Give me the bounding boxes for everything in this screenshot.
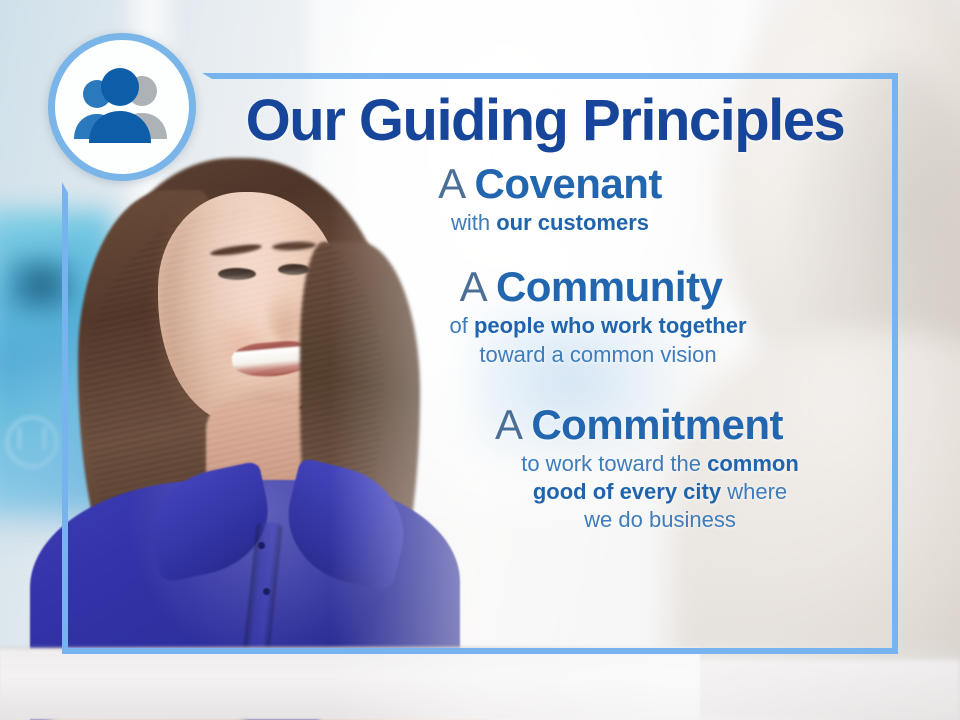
guiding-principles-graphic: FLOW AUTOMOTIVE FLOW (0, 0, 960, 720)
principle-heading: A Community (292, 265, 890, 309)
subtext-suffix: where (721, 479, 787, 504)
subtext-line-2: toward a common vision (306, 341, 890, 369)
frame-border-left (62, 193, 68, 654)
principle-subtext: of people who work together toward a com… (292, 312, 890, 368)
subtext-line-3: we do business (430, 506, 890, 534)
subtext-line-2: good of every city where (430, 478, 890, 506)
principle-keyword: Commitment (531, 401, 783, 448)
subtext-emphasis: people who work together (474, 313, 747, 338)
principle-heading: A Covenant (210, 162, 890, 206)
principle-subtext: with our customers (210, 209, 890, 237)
frame-border-top (212, 73, 898, 79)
people-group-icon (68, 67, 176, 147)
principle-article: A (495, 401, 531, 448)
subtext-prefix: with (451, 210, 496, 235)
subtext-emphasis-a: common (707, 451, 799, 476)
principle-article: A (460, 263, 496, 310)
subtext-emphasis-b: good of every city (533, 479, 721, 504)
desk-surface (0, 648, 700, 720)
principle-subtext: to work toward the common good of every … (388, 450, 890, 534)
frame-border-bottom (62, 648, 898, 654)
frame-border-right (892, 73, 898, 654)
principle-heading: A Commitment (388, 403, 890, 447)
people-badge (48, 33, 196, 181)
subtext-prefix: of (449, 313, 473, 338)
principle-keyword: Community (496, 263, 723, 310)
text-block: Our Guiding Principles A Covenant with o… (200, 86, 890, 631)
subtext-emphasis: our customers (496, 210, 649, 235)
subtext-prefix: to work toward the (521, 451, 707, 476)
subtext-line-1: to work toward the common (430, 450, 890, 478)
principle-keyword: Covenant (475, 160, 662, 207)
principle-covenant: A Covenant with our customers (200, 162, 890, 237)
principle-article: A (438, 160, 474, 207)
subtext-line-1: of people who work together (306, 312, 890, 340)
principle-community: A Community of people who work together … (200, 265, 890, 368)
page-title: Our Guiding Principles (200, 86, 890, 150)
principle-commitment: A Commitment to work toward the common g… (200, 403, 890, 535)
